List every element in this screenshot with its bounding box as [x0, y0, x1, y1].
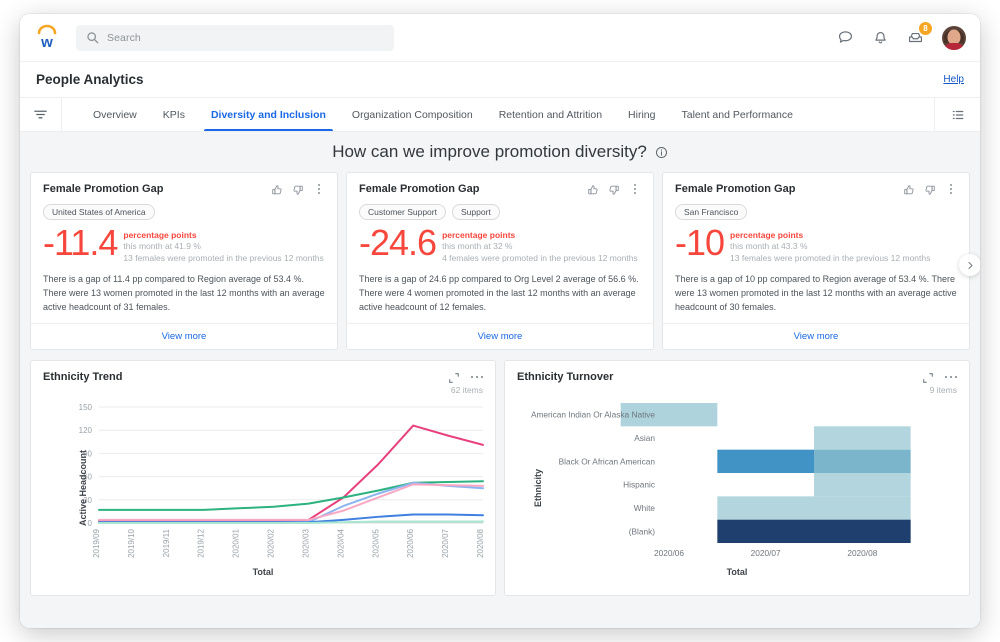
more-options-icon[interactable] — [313, 183, 325, 195]
expand-icon[interactable] — [448, 371, 460, 383]
insight-card-footer: View more — [347, 323, 653, 349]
insight-card-actions — [271, 183, 325, 195]
metric-subtext-2: 13 females were promoted in the previous… — [123, 253, 323, 265]
chart-header: Ethnicity Turnover — [517, 371, 957, 383]
metric-value: -10 — [675, 224, 724, 262]
metric-detail: percentage points this month at 43.3 % 1… — [724, 224, 930, 265]
svg-text:2020/01: 2020/01 — [232, 529, 241, 558]
metric-detail: percentage points this month at 32 % 4 f… — [436, 224, 638, 265]
metric-value: -11.4 — [43, 224, 117, 262]
svg-text:2020/02: 2020/02 — [267, 529, 276, 558]
insight-card-body: Female Promotion Gap — [347, 173, 653, 323]
header-icon-group: 8 — [837, 26, 966, 50]
chart-header: Ethnicity Trend — [43, 371, 483, 383]
insight-card-title: Female Promotion Gap — [43, 183, 271, 195]
svg-text:2020/08: 2020/08 — [847, 548, 877, 558]
svg-text:0: 0 — [88, 519, 93, 528]
question-header: How can we improve promotion diversity? — [20, 132, 980, 172]
y-axis-label: Ethnicity — [533, 469, 543, 507]
tab-overview[interactable]: Overview — [80, 98, 150, 131]
insight-description: There is a gap of 24.6 pp compared to Or… — [359, 273, 641, 315]
help-link[interactable]: Help — [943, 74, 964, 85]
tab-list: Overview KPIs Diversity and Inclusion Or… — [62, 98, 934, 131]
svg-text:2019/09: 2019/09 — [92, 529, 101, 558]
tab-bar: Overview KPIs Diversity and Inclusion Or… — [20, 98, 980, 132]
y-axis-label: Active Headcount — [78, 450, 88, 526]
tab-diversity-and-inclusion[interactable]: Diversity and Inclusion — [198, 98, 339, 131]
chart-actions — [922, 371, 958, 383]
svg-text:150: 150 — [79, 403, 93, 412]
insight-card-row: Female Promotion Gap — [20, 172, 980, 350]
inbox-icon[interactable]: 8 — [907, 29, 924, 46]
filter-icon[interactable] — [20, 98, 62, 131]
tab-retention-and-attrition[interactable]: Retention and Attrition — [486, 98, 615, 131]
list-view-icon[interactable] — [934, 98, 980, 131]
insight-card-header: Female Promotion Gap — [43, 183, 325, 195]
user-avatar[interactable] — [942, 26, 966, 50]
svg-text:2020/07: 2020/07 — [441, 529, 450, 558]
search-input[interactable]: Search — [76, 25, 394, 51]
tab-kpis[interactable]: KPIs — [150, 98, 198, 131]
chart-card-ethnicity-trend: Ethnicity Trend 62 items Active Headcoun… — [30, 360, 496, 596]
insight-card: Female Promotion Gap — [346, 172, 654, 350]
heatmap-plot: Ethnicity Total American Indian Or Alask… — [517, 397, 957, 579]
workday-logo[interactable]: w — [32, 23, 62, 53]
insight-card-header: Female Promotion Gap — [359, 183, 641, 195]
metric-value: -24.6 — [359, 224, 436, 262]
chart-title: Ethnicity Trend — [43, 371, 448, 383]
view-more-button[interactable]: View more — [162, 331, 207, 342]
thumbs-down-icon[interactable] — [924, 183, 936, 195]
view-more-button[interactable]: View more — [794, 331, 839, 342]
tab-hiring[interactable]: Hiring — [615, 98, 668, 131]
chart-items-count: 62 items — [43, 385, 483, 395]
insight-card-actions — [903, 183, 957, 195]
insight-card-pills: United States of America — [43, 204, 325, 220]
thumbs-up-icon[interactable] — [587, 183, 599, 195]
dashboard-canvas: How can we improve promotion diversity? … — [20, 132, 980, 628]
insight-card: Female Promotion Gap — [662, 172, 970, 350]
insight-card-title: Female Promotion Gap — [675, 183, 903, 195]
thumbs-down-icon[interactable] — [292, 183, 304, 195]
insight-card-footer: View more — [663, 323, 969, 349]
heatmap-svg: American Indian Or Alaska NativeAsianBla… — [517, 397, 965, 579]
application-window: w Search — [20, 14, 980, 628]
chart-row: Ethnicity Trend 62 items Active Headcoun… — [20, 350, 980, 596]
metric-unit: percentage points — [730, 230, 930, 241]
insight-metric: -11.4 percentage points this month at 41… — [43, 224, 325, 265]
metric-subtext-2: 13 females were promoted in the previous… — [730, 253, 930, 265]
insight-card-pills: San Francisco — [675, 204, 957, 220]
question-title: How can we improve promotion diversity? — [332, 142, 647, 162]
metric-detail: percentage points this month at 41.9 % 1… — [117, 224, 323, 265]
metric-subtext-1: this month at 43.3 % — [730, 241, 930, 253]
insight-card-body: Female Promotion Gap — [31, 173, 337, 323]
svg-text:White: White — [634, 503, 656, 513]
metric-unit: percentage points — [123, 230, 323, 241]
tab-talent-and-performance[interactable]: Talent and Performance — [668, 98, 805, 131]
metric-subtext-2: 4 females were promoted in the previous … — [442, 253, 638, 265]
svg-text:2019/11: 2019/11 — [162, 529, 171, 558]
insight-metric: -24.6 percentage points this month at 32… — [359, 224, 641, 265]
more-options-icon[interactable] — [945, 183, 957, 195]
more-options-icon[interactable] — [471, 376, 484, 379]
view-more-button[interactable]: View more — [478, 331, 523, 342]
filter-pill[interactable]: Customer Support — [359, 204, 446, 220]
filter-pill[interactable]: United States of America — [43, 204, 155, 220]
carousel-next-button[interactable] — [959, 254, 980, 276]
filter-pill[interactable]: San Francisco — [675, 204, 747, 220]
notifications-bell-icon[interactable] — [872, 29, 889, 46]
insight-metric: -10 percentage points this month at 43.3… — [675, 224, 957, 265]
filter-pill[interactable]: Support — [452, 204, 500, 220]
search-placeholder: Search — [107, 32, 141, 44]
tab-organization-composition[interactable]: Organization Composition — [339, 98, 486, 131]
insight-card-body: Female Promotion Gap — [663, 173, 969, 323]
svg-text:2020/04: 2020/04 — [336, 529, 345, 558]
metric-subtext-1: this month at 41.9 % — [123, 241, 323, 253]
line-chart-plot: Active Headcount Total 03060901201502019… — [43, 397, 483, 579]
more-options-icon[interactable] — [945, 376, 958, 379]
svg-text:2020/03: 2020/03 — [301, 529, 310, 558]
more-options-icon[interactable] — [629, 183, 641, 195]
svg-text:2020/07: 2020/07 — [751, 548, 781, 558]
chat-icon[interactable] — [837, 29, 854, 46]
thumbs-up-icon[interactable] — [271, 183, 283, 195]
insight-card-footer: View more — [31, 323, 337, 349]
inbox-badge-count: 8 — [919, 22, 932, 35]
svg-text:w: w — [40, 34, 53, 51]
chart-items-count: 9 items — [517, 385, 957, 395]
insight-card-pills: Customer Support Support — [359, 204, 641, 220]
page-title-bar: People Analytics Help — [20, 62, 980, 98]
page-title: People Analytics — [36, 72, 144, 87]
svg-text:Black Or African American: Black Or African American — [559, 456, 656, 466]
avatar-body — [943, 43, 965, 50]
x-axis-label: Total — [517, 567, 957, 577]
svg-text:2020/06: 2020/06 — [406, 529, 415, 558]
thumbs-up-icon[interactable] — [903, 183, 915, 195]
insight-card: Female Promotion Gap — [30, 172, 338, 350]
expand-icon[interactable] — [922, 371, 934, 383]
search-icon — [86, 31, 99, 44]
metric-subtext-1: this month at 32 % — [442, 241, 638, 253]
chart-actions — [448, 371, 484, 383]
svg-text:American Indian Or Alaska Nati: American Indian Or Alaska Native — [531, 410, 655, 420]
svg-text:120: 120 — [79, 426, 93, 435]
insight-card-actions — [587, 183, 641, 195]
info-icon[interactable] — [655, 146, 668, 159]
chart-title: Ethnicity Turnover — [517, 371, 922, 383]
svg-text:2020/05: 2020/05 — [371, 529, 380, 558]
insight-card-title: Female Promotion Gap — [359, 183, 587, 195]
line-chart-svg: 03060901201502019/092019/102019/112019/1… — [43, 397, 491, 579]
svg-text:2019/12: 2019/12 — [197, 529, 206, 558]
insight-description: There is a gap of 10 pp compared to Regi… — [675, 273, 957, 315]
insight-card-header: Female Promotion Gap — [675, 183, 957, 195]
chart-card-ethnicity-turnover: Ethnicity Turnover 9 items Ethnicity Tot… — [504, 360, 970, 596]
svg-text:Asian: Asian — [634, 433, 655, 443]
svg-text:Hispanic: Hispanic — [623, 480, 655, 490]
svg-text:2020/08: 2020/08 — [476, 529, 485, 558]
thumbs-down-icon[interactable] — [608, 183, 620, 195]
metric-unit: percentage points — [442, 230, 638, 241]
svg-text:(Blank): (Blank) — [629, 526, 656, 536]
insight-description: There is a gap of 11.4 pp compared to Re… — [43, 273, 325, 315]
svg-text:2019/10: 2019/10 — [127, 529, 136, 558]
global-header: w Search — [20, 14, 980, 62]
x-axis-label: Total — [43, 567, 483, 577]
svg-text:2020/06: 2020/06 — [654, 548, 684, 558]
